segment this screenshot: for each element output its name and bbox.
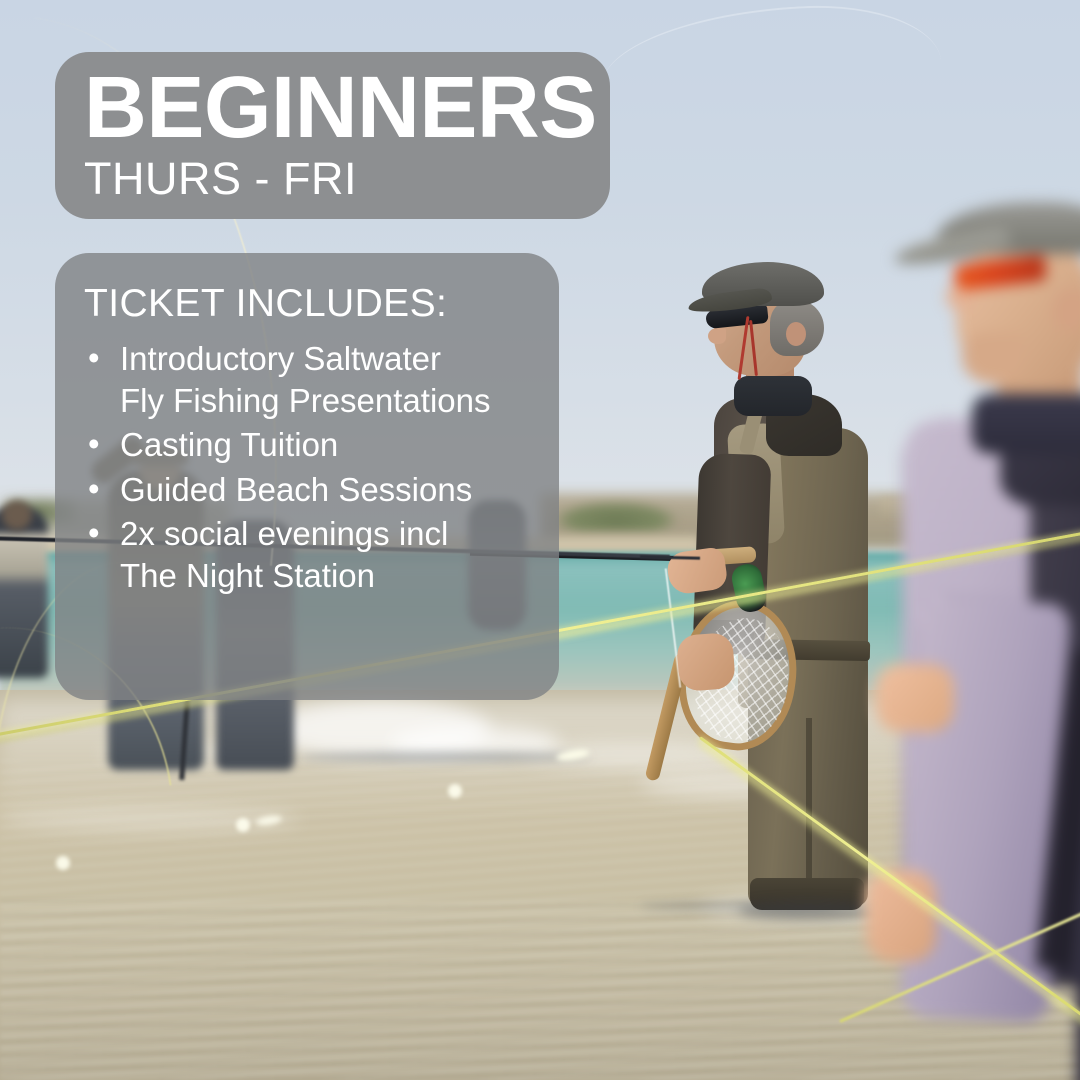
list-item: • Casting Tuition — [84, 424, 559, 466]
title-subtitle: THURS - FRI — [84, 152, 610, 205]
list-item-line2: The Night Station — [120, 555, 559, 597]
angler-collar — [734, 376, 812, 416]
angler-nose — [708, 328, 726, 344]
ticket-includes-header: TICKET INCLUDES: — [84, 283, 559, 326]
fly-line-highlight — [236, 818, 250, 832]
list-item-line1: Introductory Saltwater — [120, 340, 441, 377]
angler-water-shadow — [738, 902, 878, 920]
ticket-includes-list: • Introductory Saltwater Fly Fishing Pre… — [84, 338, 559, 597]
fly-line-highlight — [56, 856, 70, 870]
surf-foam — [0, 806, 300, 832]
list-item: • Introductory Saltwater Fly Fishing Pre… — [84, 338, 559, 422]
foreground-chin — [962, 332, 1024, 384]
bullet-icon: • — [88, 512, 100, 554]
title-panel: BEGINNERS THURS - FRI — [55, 52, 610, 219]
foreground-hand-upper — [876, 664, 954, 732]
bullet-icon: • — [88, 468, 100, 510]
bullet-icon: • — [88, 337, 100, 379]
list-item: • 2x social evenings incl The Night Stat… — [84, 513, 559, 597]
bullet-icon: • — [88, 423, 100, 465]
list-item-line1: 2x social evenings incl — [120, 515, 448, 552]
list-item: • Guided Beach Sessions — [84, 469, 559, 511]
foreground-ear — [1052, 288, 1080, 332]
list-item-line2: Fly Fishing Presentations — [120, 380, 559, 422]
foreground-collar — [972, 394, 1080, 454]
angler-ear — [786, 322, 806, 346]
headland-vegetation-center — [556, 502, 676, 532]
angler-hand-lower — [676, 632, 736, 692]
list-item-line1: Guided Beach Sessions — [120, 471, 472, 508]
list-item-line1: Casting Tuition — [120, 426, 338, 463]
ticket-includes-panel: TICKET INCLUDES: • Introductory Saltwate… — [55, 253, 559, 700]
page-title: BEGINNERS — [84, 66, 610, 150]
fly-line-highlight — [448, 784, 462, 798]
wave-shadow — [300, 752, 590, 762]
promo-poster: BEGINNERS THURS - FRI TICKET INCLUDES: •… — [0, 0, 1080, 1080]
